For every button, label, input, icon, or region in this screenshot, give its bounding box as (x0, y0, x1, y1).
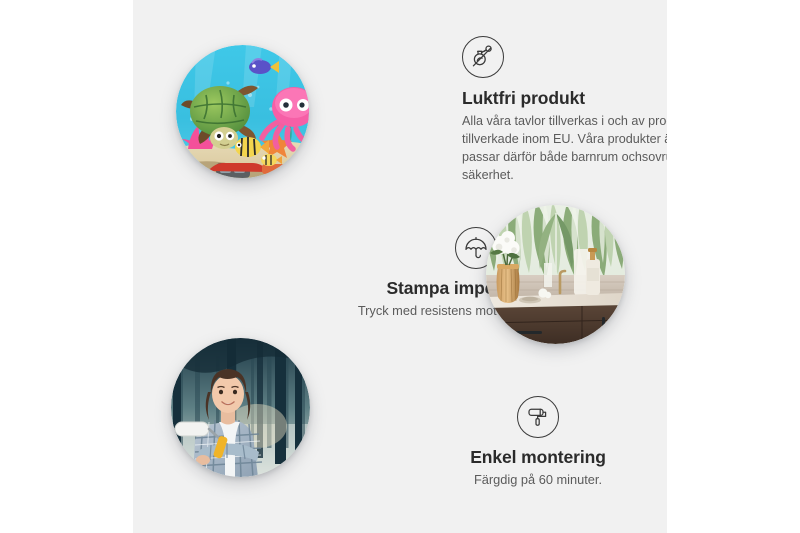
woman-with-paint-roller-forest-mural-circle (171, 338, 310, 477)
feature-text-odorless: Luktfri produkt Alla våra tavlor tillver… (462, 36, 667, 185)
no-scent-perfume-bottle-icon (462, 36, 504, 78)
feature-title: Luktfri produkt (462, 88, 667, 109)
bathroom-tropical-wallpaper-circle (486, 205, 625, 344)
feature-text-easy-mounting: Enkel montering Färgdig på 60 minuter. (438, 396, 638, 489)
infographic-page: Luktfri produkt Alla våra tavlor tillver… (0, 0, 800, 533)
underwater-cartoon-scene-circle (176, 45, 309, 178)
features-panel: Luktfri produkt Alla våra tavlor tillver… (133, 0, 667, 533)
feature-body: Färgdig på 60 minuter. (438, 471, 638, 489)
feature-title: Enkel montering (438, 447, 638, 468)
feature-body: Alla våra tavlor tillverkas i och av pro… (462, 113, 667, 185)
paint-roller-icon (517, 396, 559, 438)
